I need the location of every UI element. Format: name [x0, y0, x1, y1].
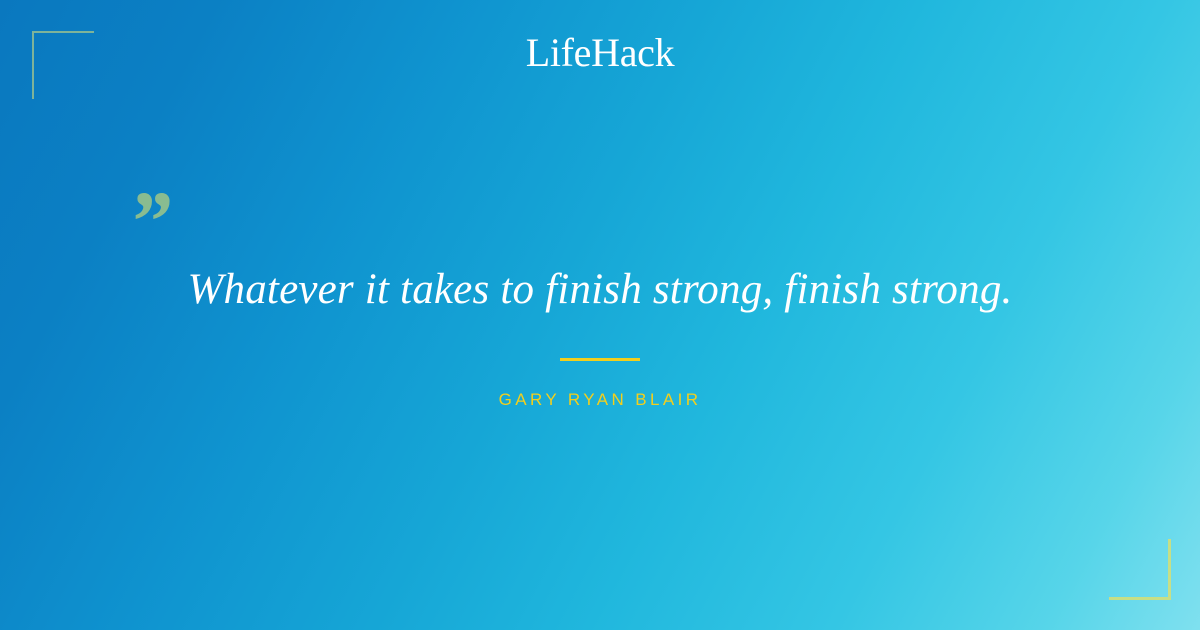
- quote-text: Whatever it takes to finish strong, fini…: [0, 262, 1200, 318]
- brand-logo: LifeHack: [0, 33, 1200, 73]
- quote-card: LifeHack ” Whatever it takes to finish s…: [0, 0, 1200, 630]
- quote-author: GARY RYAN BLAIR: [0, 390, 1200, 410]
- quotation-mark-icon: ”: [128, 178, 188, 248]
- quote-block: Whatever it takes to finish strong, fini…: [0, 262, 1200, 318]
- quote-divider: [560, 358, 640, 361]
- corner-bracket-bottom-right-icon: [1109, 539, 1171, 600]
